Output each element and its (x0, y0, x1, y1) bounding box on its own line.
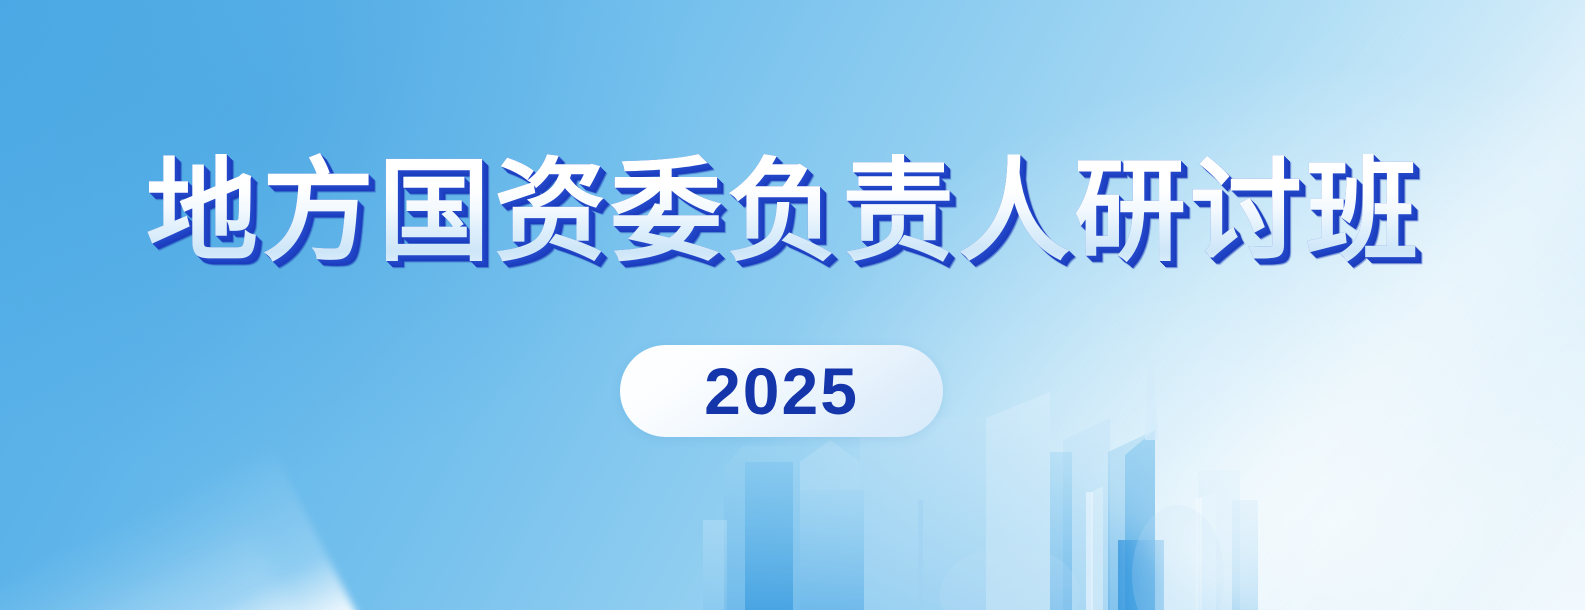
year-badge: 2025 (620, 345, 943, 437)
light-streak-bottom-left-icon (0, 444, 470, 610)
light-streak-bottom-left-glow-icon (0, 520, 431, 610)
background-light-wash (745, 70, 1585, 610)
light-streak-bottom-right-icon (1273, 124, 1585, 610)
year-badge-label: 2025 (704, 358, 859, 424)
page-title-shadow: 地方国资委负责人研讨班 (134, 150, 1434, 274)
banner-root: 地方国资委负责人研讨班 地方国资委负责人研讨班 2025 (0, 0, 1585, 610)
page-title: 地方国资委负责人研讨班 (134, 150, 1434, 274)
light-streak-top-right-icon (981, 0, 1585, 610)
city-skyline-silhouette (0, 0, 1585, 610)
background-shade-wash (0, 0, 700, 480)
